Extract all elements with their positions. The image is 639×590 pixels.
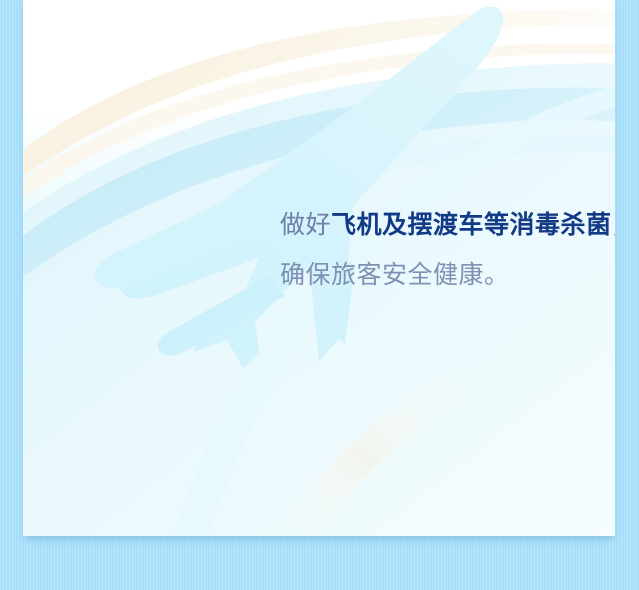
- headline-lead-text: 做好: [280, 211, 331, 239]
- headline-line: 做好飞机及摆渡车等消毒杀菌，: [280, 208, 615, 242]
- white-card-panel: 做好飞机及摆渡车等消毒杀菌， 确保旅客安全健康。: [23, 0, 615, 536]
- headline-block: 做好飞机及摆渡车等消毒杀菌， 确保旅客安全健康。: [280, 208, 615, 291]
- headline-accent-text: 飞机及摆渡车等消毒杀菌，: [331, 211, 615, 239]
- subline-text: 确保旅客安全健康。: [280, 259, 615, 291]
- poster-canvas: 做好飞机及摆渡车等消毒杀菌， 确保旅客安全健康。: [0, 0, 639, 590]
